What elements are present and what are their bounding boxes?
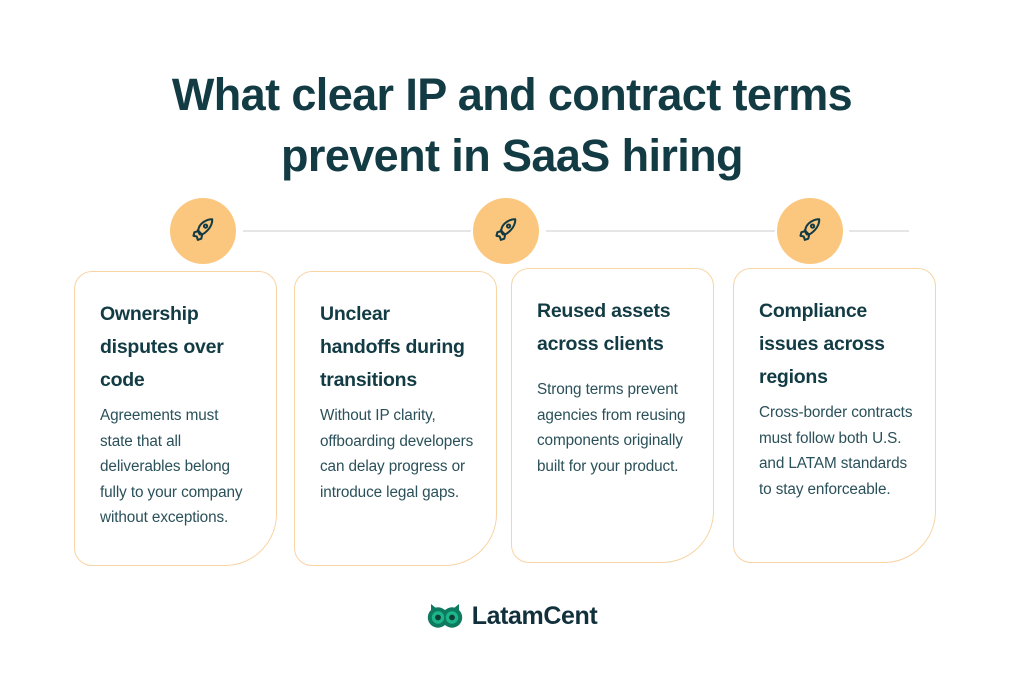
card-body: Without IP clarity, offboarding develope… [320,403,474,505]
card-title: Compliance issues across regions [759,295,913,394]
card-body: Cross-border contracts must follow both … [759,400,913,502]
infographic-canvas: What clear IP and contract terms prevent… [0,0,1024,675]
card-title: Unclear handoffs during transitions [320,298,474,397]
card-title: Ownership disputes over code [100,298,254,397]
footer-brand: LatamCent [0,601,1024,631]
info-card-3: Reused assets across clients Strong term… [511,268,714,563]
info-card-2: Unclear handoffs during transitions With… [294,271,497,566]
card-body: Strong terms prevent agencies from reusi… [537,377,691,479]
info-card-4: Compliance issues across regions Cross-b… [733,268,936,563]
info-card-1: Ownership disputes over code Agreements … [74,271,277,566]
card-body: Agreements must state that all deliverab… [100,403,254,531]
owl-logo-icon [427,602,463,630]
card-row: Ownership disputes over code Agreements … [0,0,1024,675]
brand-name: LatamCent [472,601,598,631]
card-title: Reused assets across clients [537,295,691,361]
